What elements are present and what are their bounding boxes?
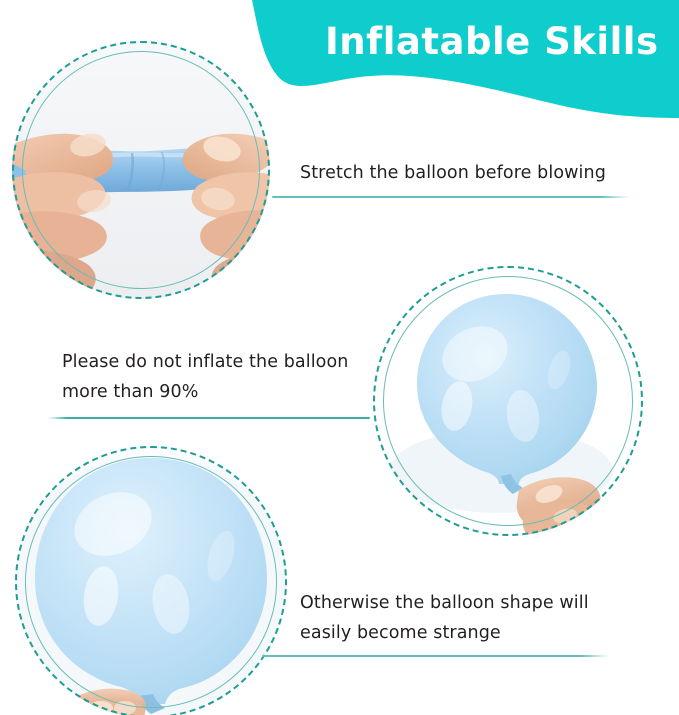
photo-stretch-balloon <box>12 41 270 299</box>
caption-step-2-rule <box>48 417 370 419</box>
caption-step-3-line-1: Otherwise the balloon shape will <box>300 588 589 618</box>
caption-step-3: Otherwise the balloon shape will easily … <box>300 588 589 648</box>
caption-step-1-line-1: Stretch the balloon before blowing <box>300 158 606 188</box>
caption-step-2-line-2: more than 90% <box>62 377 349 407</box>
caption-step-1: Stretch the balloon before blowing <box>300 158 606 188</box>
page-title: Inflatable Skills <box>325 16 655 68</box>
photo-inflated-balloon <box>373 266 643 536</box>
caption-step-2: Please do not inflate the balloon more t… <box>62 347 349 407</box>
caption-step-3-rule <box>262 655 609 657</box>
photo-over-inflated-balloon <box>15 446 287 715</box>
caption-step-1-rule <box>272 196 629 198</box>
caption-step-2-line-1: Please do not inflate the balloon <box>62 347 349 377</box>
inflatable-skills-infographic: Inflatable Skills <box>0 0 679 715</box>
stretch-balloon-illustration <box>12 41 270 299</box>
inflated-balloon-illustration <box>373 266 643 536</box>
caption-step-3-line-2: easily become strange <box>300 618 589 648</box>
over-inflated-balloon-illustration <box>15 446 287 715</box>
